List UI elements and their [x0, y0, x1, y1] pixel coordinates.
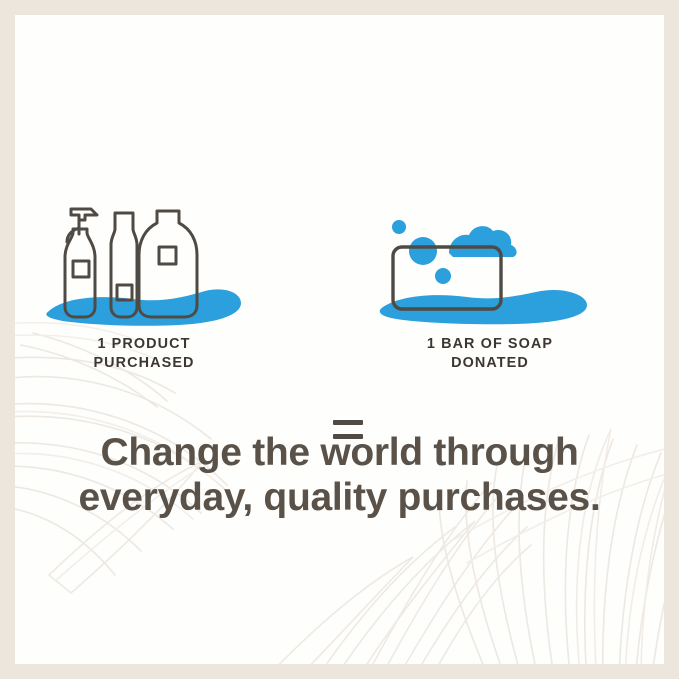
promise-left-caption: 1 PRODUCT PURCHASED [29, 335, 259, 373]
headline-line-1: Change the world through [15, 430, 664, 475]
promise-right-block: 1 BAR OF SOAP DONATED [375, 185, 605, 400]
bubble-small-inner [435, 268, 451, 284]
bubble-large [409, 237, 437, 265]
water-puddle-right [380, 290, 587, 324]
soap-foam-cloud [449, 226, 517, 257]
promise-right-caption-line1: 1 BAR OF SOAP [427, 336, 553, 352]
poster-canvas: 1 PRODUCT PURCHASED [15, 15, 664, 664]
headline-line-2: everyday, quality purchases. [15, 475, 664, 520]
water-puddle-left [46, 289, 241, 325]
promise-right-caption: 1 BAR OF SOAP DONATED [375, 335, 605, 373]
equals-bar-top [333, 420, 363, 425]
promotional-poster: 1 PRODUCT PURCHASED [0, 0, 679, 679]
three-product-bottles-in-water-icon [29, 185, 259, 335]
promise-right-caption-line2: DONATED [375, 354, 605, 373]
promise-left-block: 1 PRODUCT PURCHASED [29, 185, 259, 400]
promise-left-caption-line2: PURCHASED [29, 354, 259, 373]
headline: Change the world through everyday, quali… [15, 430, 664, 520]
soap-bar-with-bubbles-icon [375, 185, 605, 335]
bubble-small-top [392, 220, 406, 234]
promise-row: 1 PRODUCT PURCHASED [15, 185, 664, 400]
promise-left-caption-line1: 1 PRODUCT [97, 336, 190, 352]
